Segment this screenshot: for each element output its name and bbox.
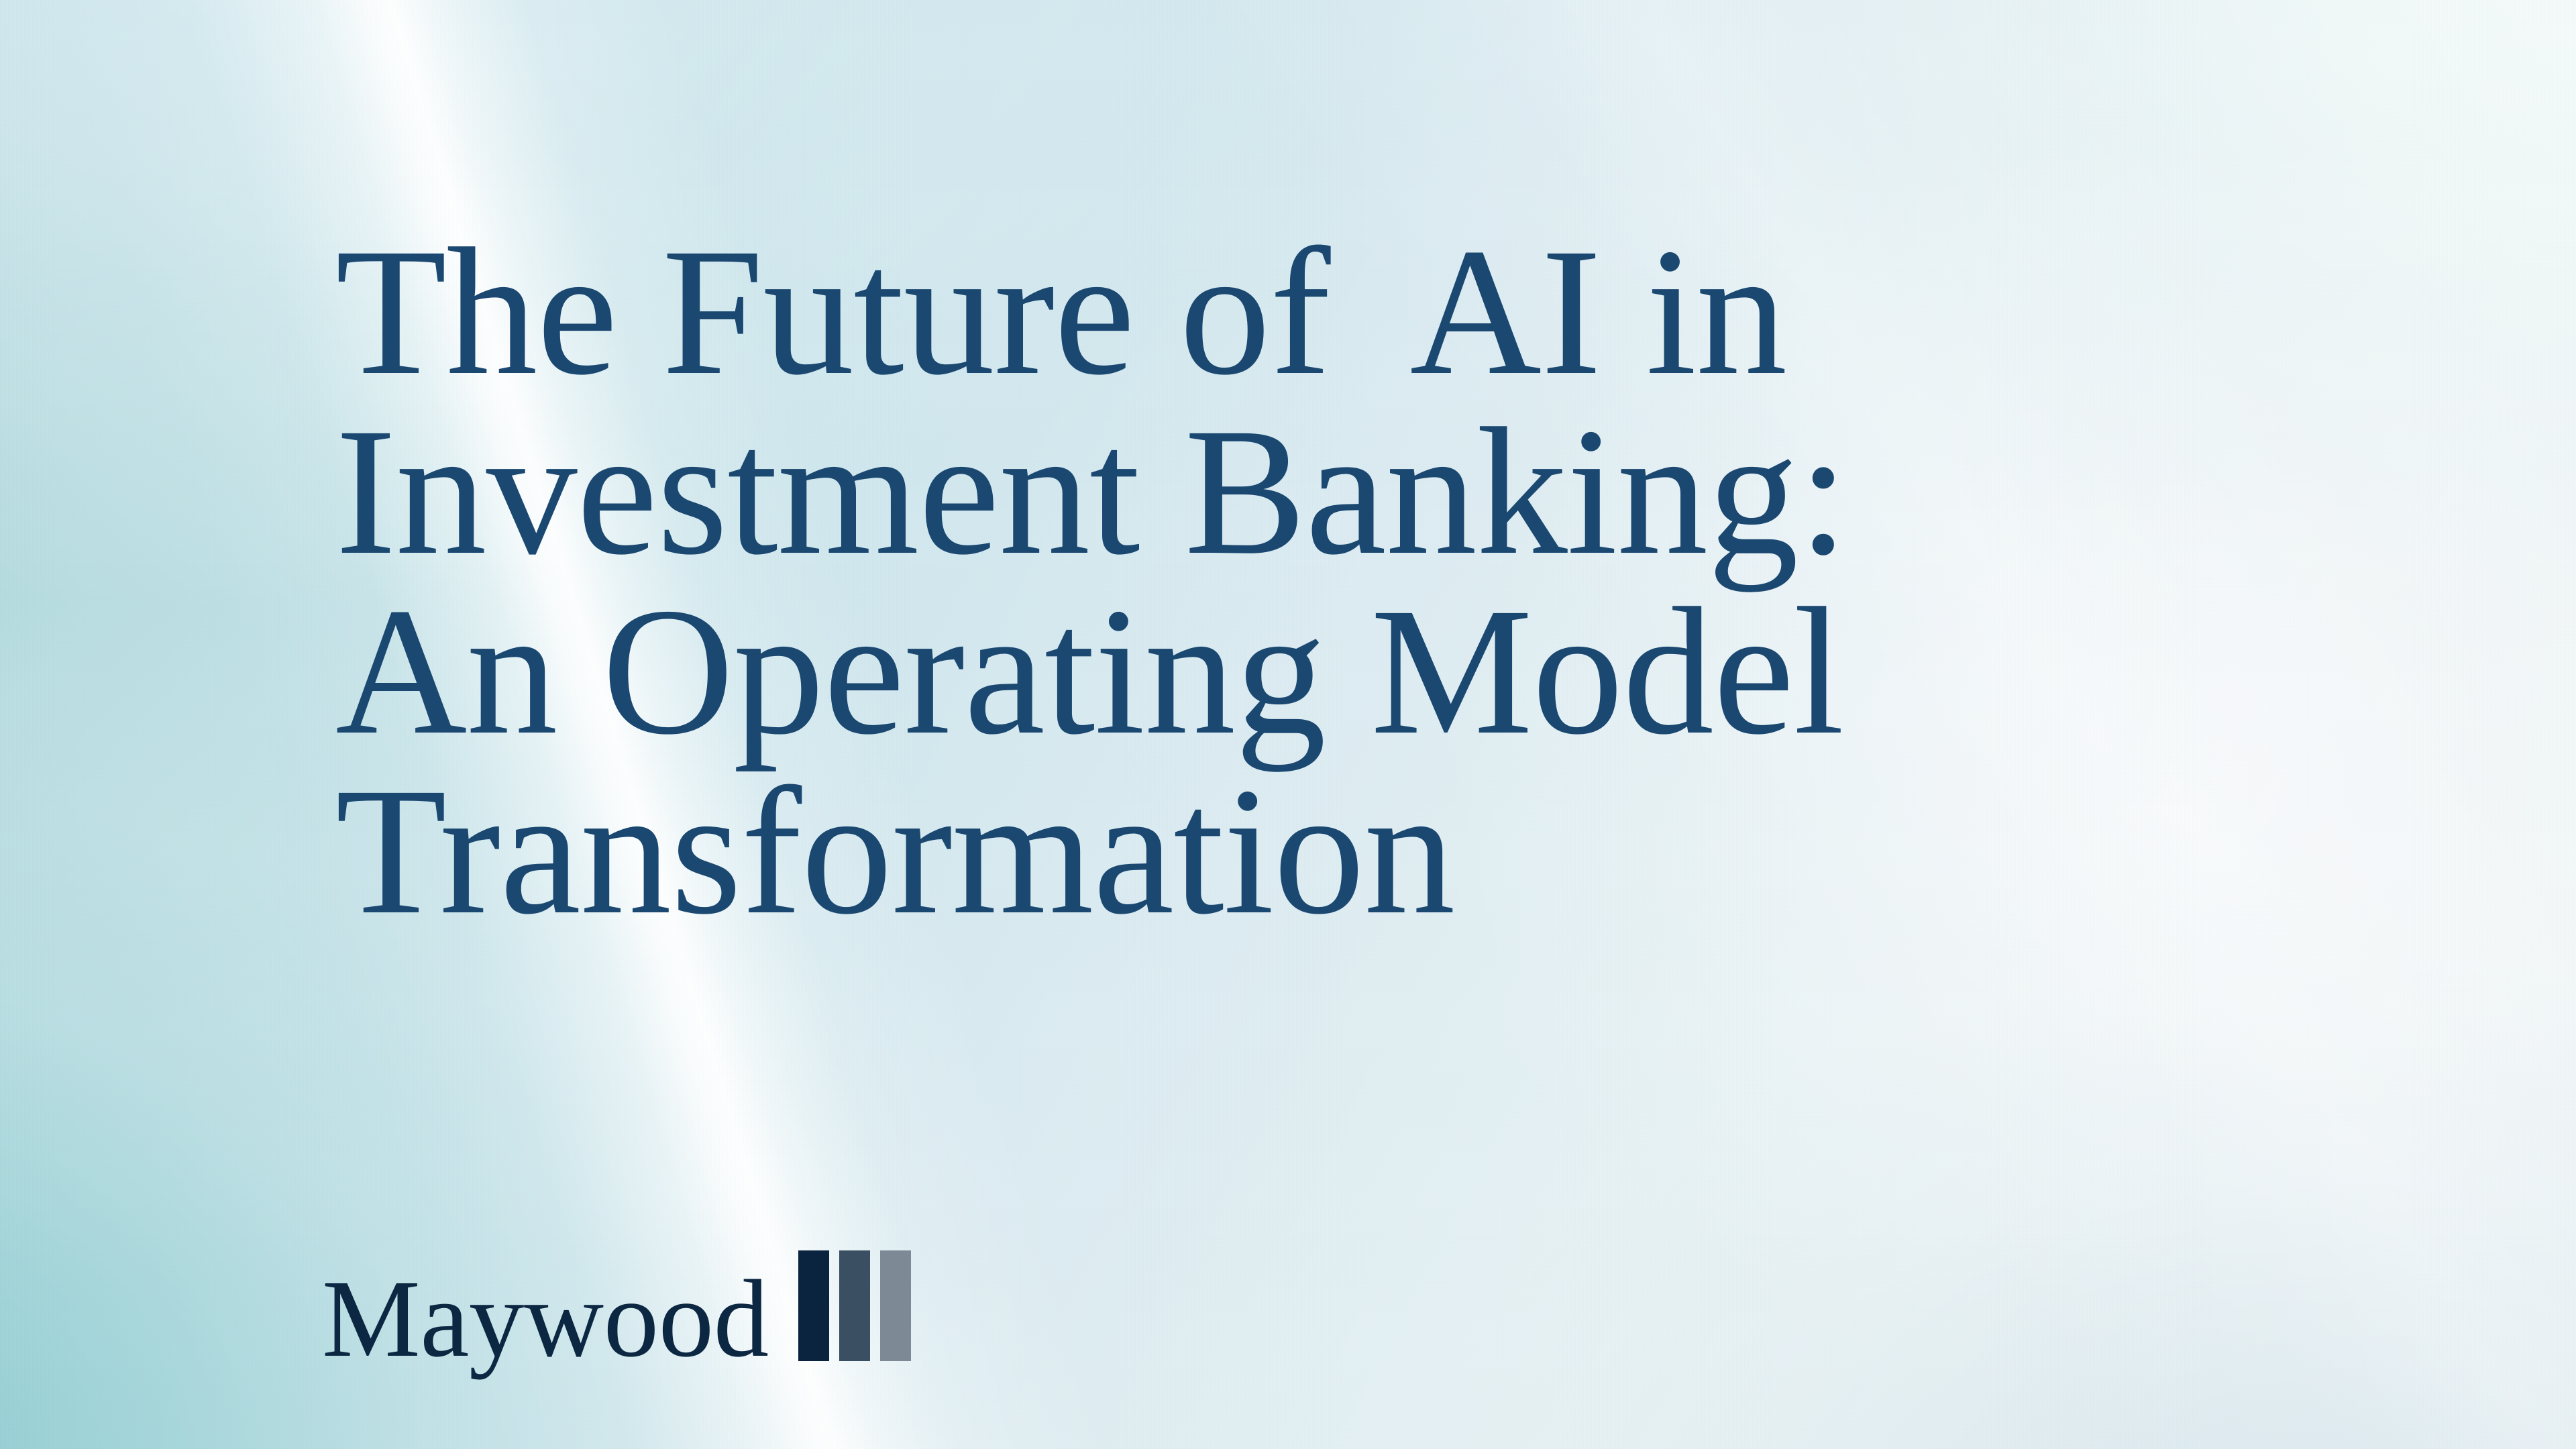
page-title: The Future of AI in Investment Banking: … [335,222,2147,941]
title-slide: The Future of AI in Investment Banking: … [0,0,2576,1449]
title-line-2: Investment Banking: [335,402,2147,582]
slide-content: The Future of AI in Investment Banking: … [0,0,2576,1449]
logo-bar-navy [798,1250,829,1361]
title-line-1: The Future of AI in [335,222,2147,402]
title-line-4: Transformation [335,761,2147,941]
logo-bar-gray [880,1250,911,1361]
logo-wordmark: Maywood [322,1263,769,1375]
title-line-3: An Operating Model [335,582,2147,761]
logo-bar-slate [839,1250,870,1361]
logo-bars-icon [798,1250,911,1361]
brand-logo: Maywood [322,1249,911,1375]
